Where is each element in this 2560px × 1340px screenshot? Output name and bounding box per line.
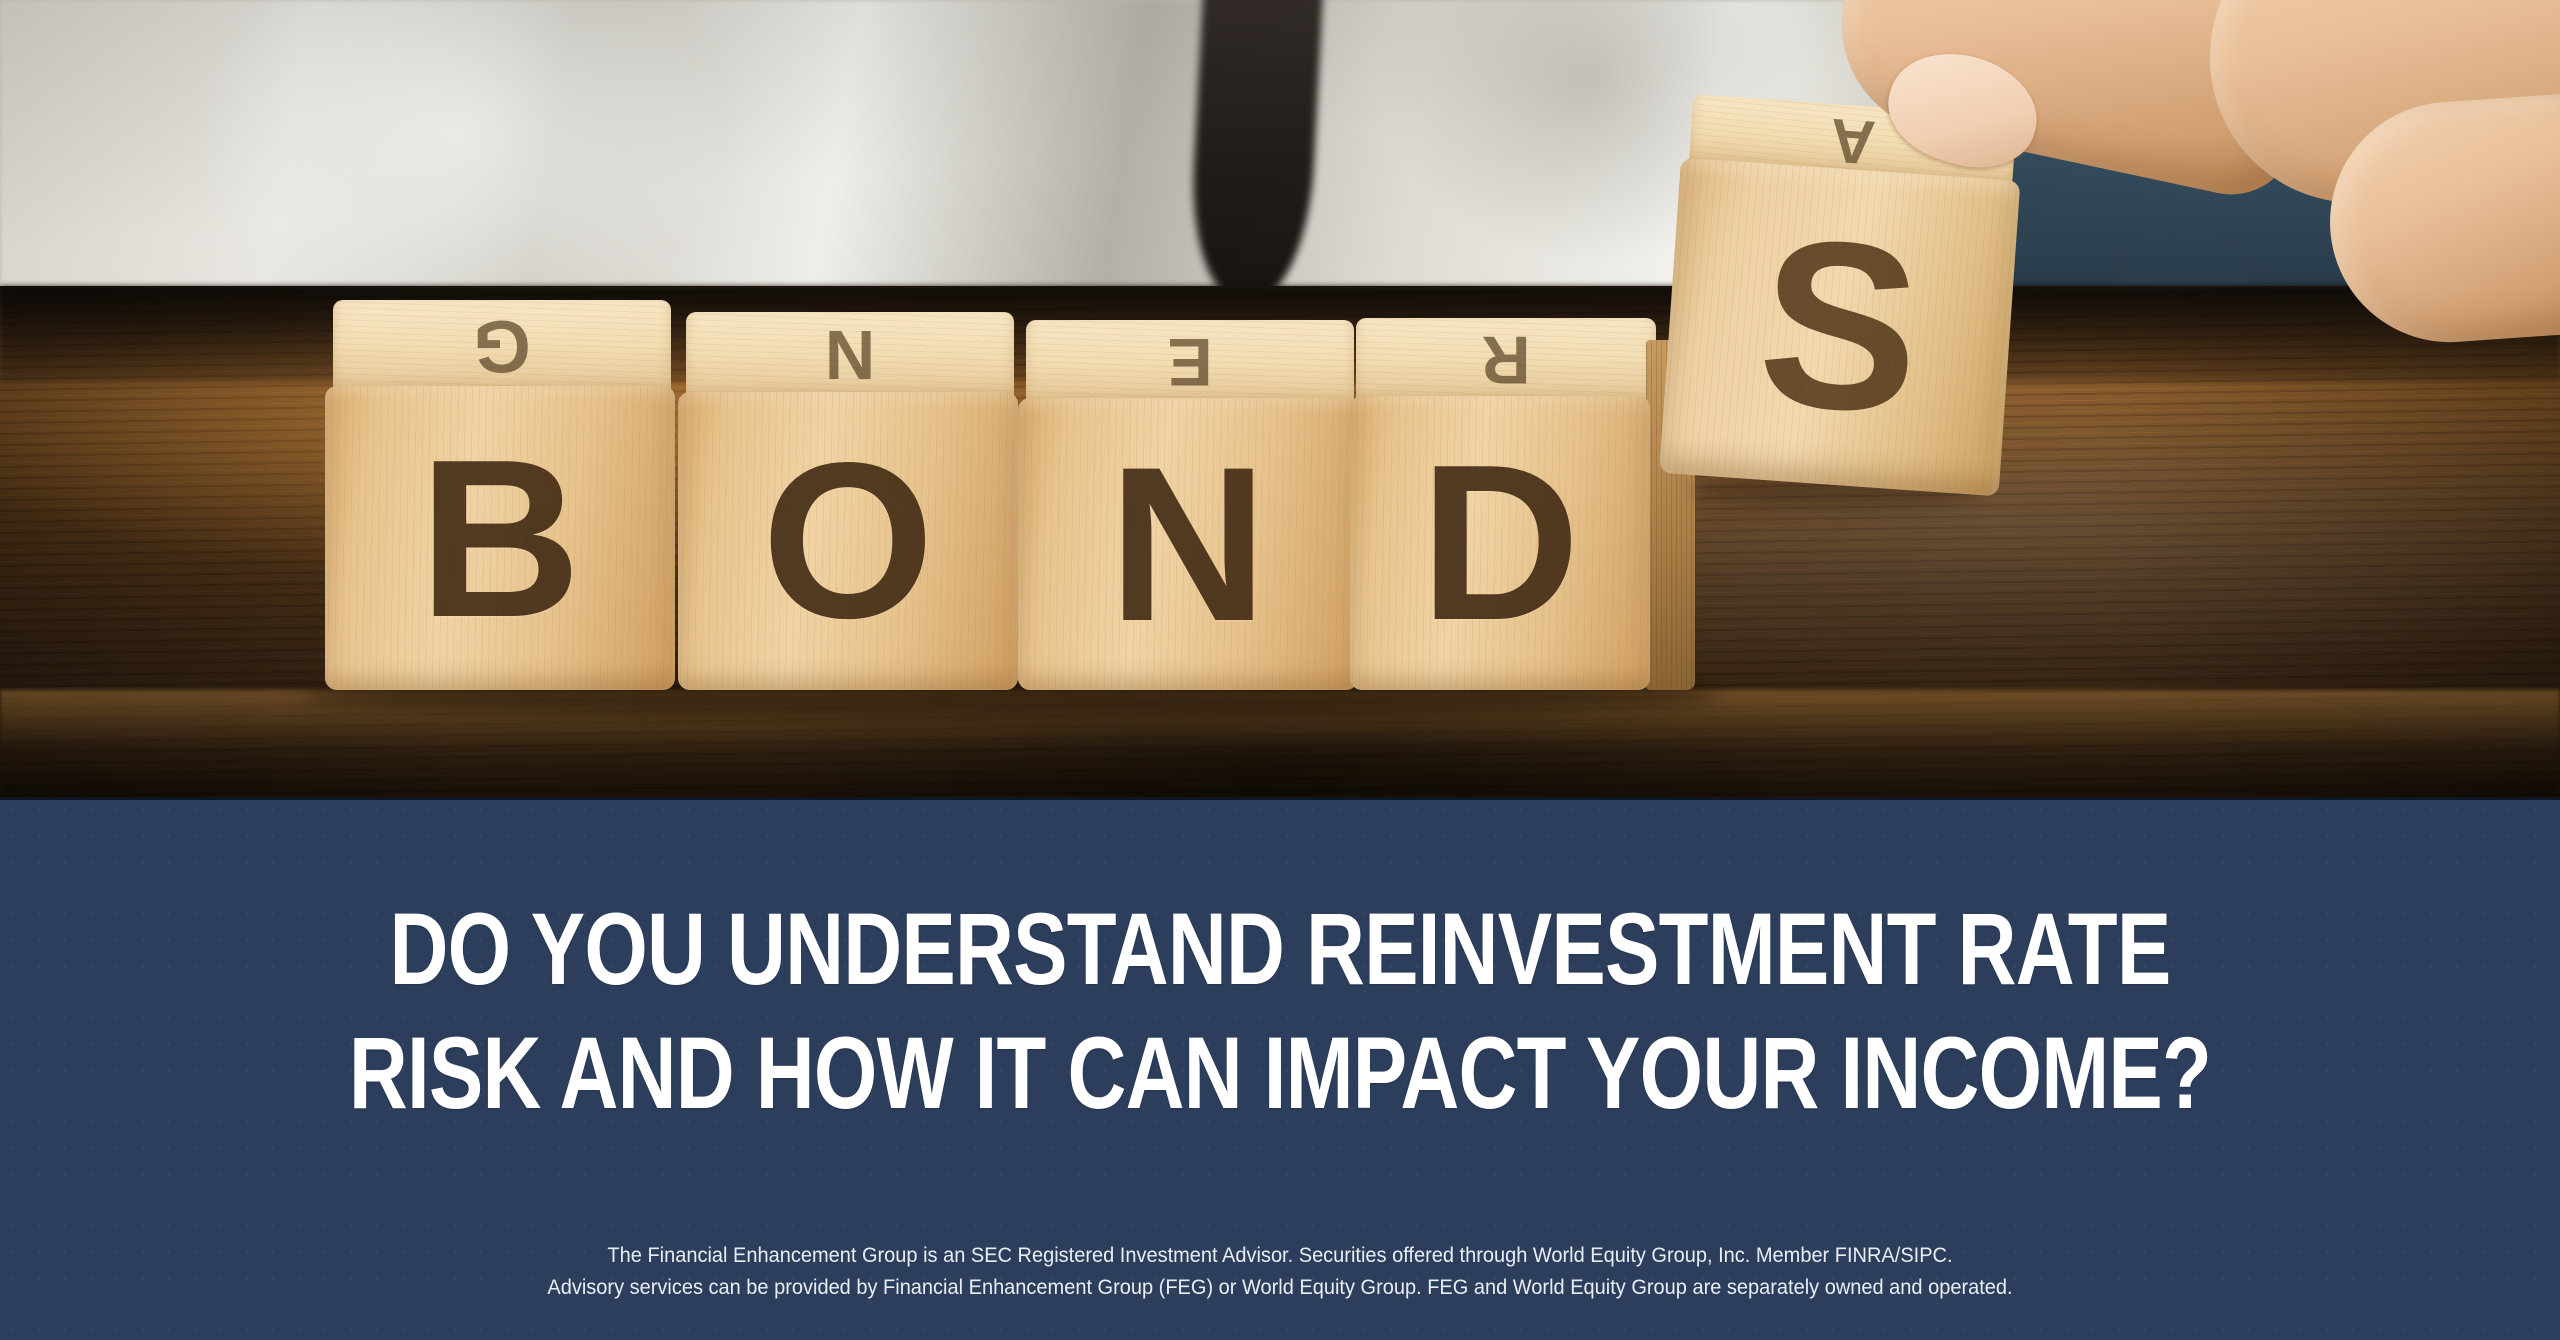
- block-o: N O: [678, 312, 1018, 690]
- marketing-banner: G B N O E N: [0, 0, 2560, 1340]
- block-o-front-face: O: [678, 392, 1018, 690]
- headline-line-2: RISK AND HOW IT CAN IMPACT YOUR INCOME?: [256, 1011, 2304, 1135]
- block-n-front-letter: N: [1018, 398, 1358, 690]
- alphabet-blocks-group: G B N O E N: [0, 0, 2560, 797]
- block-o-top-face: N: [686, 312, 1014, 398]
- block-n-front-face: N: [1018, 398, 1358, 690]
- disclaimer-line-1: The Financial Enhancement Group is an SE…: [90, 1239, 2471, 1272]
- block-d-front-face: D: [1350, 396, 1650, 690]
- legal-disclaimer: The Financial Enhancement Group is an SE…: [90, 1239, 2471, 1304]
- block-s-front-face: S: [1659, 157, 2020, 496]
- block-b: G B: [325, 300, 675, 690]
- block-d-front-letter: D: [1350, 396, 1650, 690]
- band-divider: [0, 797, 2560, 800]
- navy-text-band: DO YOU UNDERSTAND REINVESTMENT RATE RISK…: [0, 797, 2560, 1340]
- block-d-top-face: R: [1356, 318, 1656, 402]
- block-n-top-face: E: [1026, 320, 1354, 404]
- block-b-top-face: G: [333, 300, 671, 392]
- block-n: E N: [1018, 320, 1358, 690]
- block-b-front-face: B: [325, 386, 675, 690]
- hero-photo: G B N O E N: [0, 0, 2560, 797]
- block-b-front-letter: B: [325, 386, 675, 690]
- disclaimer-line-2: Advisory services can be provided by Fin…: [90, 1271, 2471, 1304]
- block-d: R D: [1350, 318, 1695, 690]
- block-n-top-letter: E: [1026, 320, 1354, 404]
- block-o-front-letter: O: [678, 392, 1018, 690]
- headline-line-1: DO YOU UNDERSTAND REINVESTMENT RATE: [256, 887, 2304, 1011]
- block-d-top-letter: R: [1356, 318, 1656, 402]
- block-b-top-letter: G: [333, 300, 671, 392]
- block-s-front-letter: S: [1659, 157, 2020, 496]
- block-o-top-letter: N: [686, 312, 1014, 398]
- page-title: DO YOU UNDERSTAND REINVESTMENT RATE RISK…: [256, 887, 2304, 1136]
